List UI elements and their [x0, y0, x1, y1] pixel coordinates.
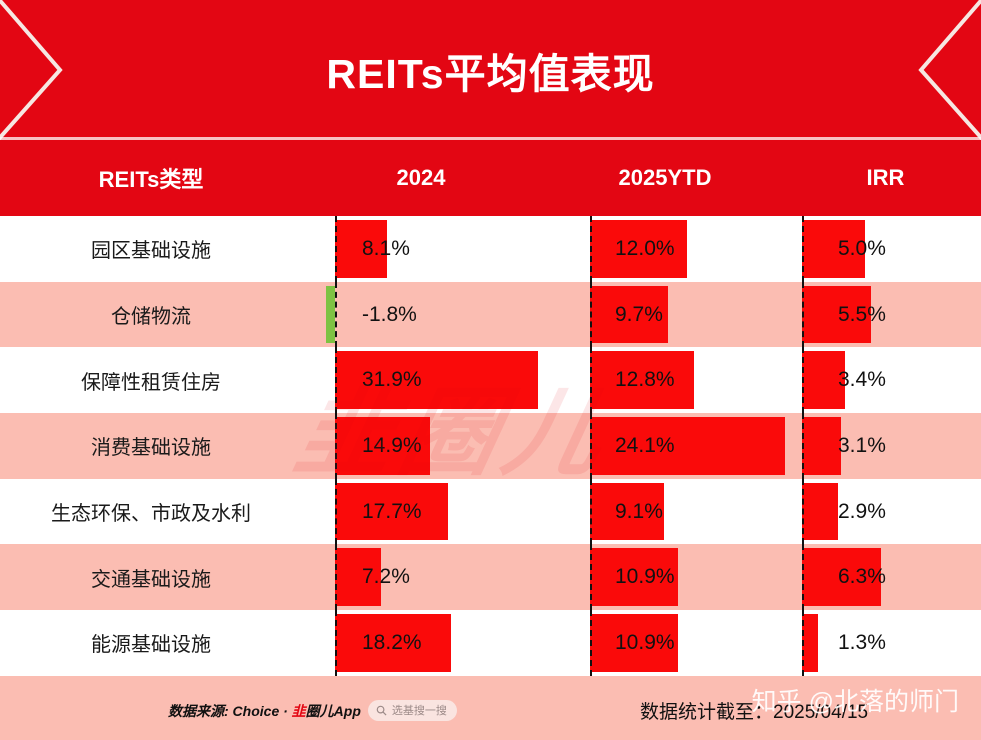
data-cutoff-label: 数据统计截至：2025/04/15 — [640, 697, 868, 724]
search-icon — [376, 705, 387, 716]
value-label: 24.1% — [615, 413, 675, 479]
table-row: 能源基础设施18.2%10.9%1.3% — [0, 610, 981, 676]
bar-negative — [326, 286, 335, 344]
cell-bar-2025ytd: 24.1% — [540, 413, 790, 479]
value-label: 9.7% — [615, 282, 663, 348]
value-label: 2.9% — [838, 479, 886, 545]
value-label: 14.9% — [362, 413, 422, 479]
cell-bar-2024: 7.2% — [302, 544, 540, 610]
bar-positive — [802, 417, 841, 475]
cell-bar-2025ytd: 9.1% — [540, 479, 790, 545]
value-label: 6.3% — [838, 544, 886, 610]
cell-bar-irr: 5.5% — [790, 282, 981, 348]
cell-bar-2025ytd: 9.7% — [540, 282, 790, 348]
value-label: 8.1% — [362, 216, 410, 282]
title-banner: REITs平均值表现 — [0, 0, 981, 140]
value-label: 3.4% — [838, 347, 886, 413]
zero-axis-line — [590, 347, 592, 413]
zero-axis-line — [335, 216, 337, 282]
column-header-2024: 2024 — [302, 165, 540, 191]
data-source-label: 数据来源: Choice · 韭圈儿App — [168, 701, 361, 721]
value-label: 10.9% — [615, 610, 675, 676]
zero-axis-line — [590, 282, 592, 348]
cell-bar-2025ytd: 10.9% — [540, 610, 790, 676]
zero-axis-line — [802, 347, 804, 413]
cell-reits-type: 仓储物流 — [0, 282, 302, 348]
zero-axis-line — [590, 479, 592, 545]
cell-bar-irr: 5.0% — [790, 216, 981, 282]
value-label: 7.2% — [362, 544, 410, 610]
value-label: 1.3% — [838, 610, 886, 676]
value-label: 31.9% — [362, 347, 422, 413]
table-row: 生态环保、市政及水利17.7%9.1%2.9% — [0, 479, 981, 545]
page-title: REITs平均值表现 — [0, 0, 981, 140]
zero-axis-line — [335, 282, 337, 348]
zero-axis-line — [335, 413, 337, 479]
value-label: 5.5% — [838, 282, 886, 348]
zero-axis-line — [590, 544, 592, 610]
reits-performance-infographic: REITs平均值表现 REITs类型 2024 2025YTD IRR 韭圈儿 … — [0, 0, 981, 740]
table-row: 仓储物流-1.8%9.7%5.5% — [0, 282, 981, 348]
cell-reits-type: 园区基础设施 — [0, 216, 302, 282]
cell-bar-irr: 2.9% — [790, 479, 981, 545]
cell-bar-2024: 14.9% — [302, 413, 540, 479]
search-pill-label: 选基搜一搜 — [392, 702, 447, 718]
zero-axis-line — [802, 282, 804, 348]
cell-reits-type: 交通基础设施 — [0, 544, 302, 610]
table-row: 保障性租赁住房31.9%12.8%3.4% — [0, 347, 981, 413]
table-row: 交通基础设施7.2%10.9%6.3% — [0, 544, 981, 610]
data-source-block: 数据来源: Choice · 韭圈儿App 选基搜一搜 — [168, 700, 457, 721]
column-header-irr: IRR — [790, 165, 981, 191]
value-label: 12.8% — [615, 347, 675, 413]
zero-axis-line — [590, 610, 592, 676]
table-body: 园区基础设施8.1%12.0%5.0%仓储物流-1.8%9.7%5.5%保障性租… — [0, 216, 981, 676]
cell-reits-type: 能源基础设施 — [0, 610, 302, 676]
zero-axis-line — [335, 347, 337, 413]
zero-axis-line — [590, 216, 592, 282]
cell-bar-2024: 31.9% — [302, 347, 540, 413]
search-pill[interactable]: 选基搜一搜 — [368, 700, 457, 721]
zero-axis-line — [802, 216, 804, 282]
value-label: 5.0% — [838, 216, 886, 282]
table-header-row: REITs类型 2024 2025YTD IRR — [0, 140, 981, 216]
cell-bar-irr: 6.3% — [790, 544, 981, 610]
table-row: 消费基础设施14.9%24.1%3.1% — [0, 413, 981, 479]
zero-axis-line — [335, 610, 337, 676]
cell-bar-irr: 1.3% — [790, 610, 981, 676]
column-header-2025ytd: 2025YTD — [540, 165, 790, 191]
value-label: 18.2% — [362, 610, 422, 676]
value-label: 3.1% — [838, 413, 886, 479]
cell-bar-irr: 3.4% — [790, 347, 981, 413]
zero-axis-line — [335, 479, 337, 545]
zero-axis-line — [335, 544, 337, 610]
zero-axis-line — [590, 413, 592, 479]
cell-bar-2024: -1.8% — [302, 282, 540, 348]
value-label: 12.0% — [615, 216, 675, 282]
bar-positive — [802, 614, 818, 672]
zero-axis-line — [802, 479, 804, 545]
cell-reits-type: 消费基础设施 — [0, 413, 302, 479]
cell-reits-type: 生态环保、市政及水利 — [0, 479, 302, 545]
value-label: 10.9% — [615, 544, 675, 610]
banner-divider — [0, 137, 981, 140]
zero-axis-line — [802, 610, 804, 676]
cell-bar-2024: 17.7% — [302, 479, 540, 545]
zero-axis-line — [802, 413, 804, 479]
column-header-type: REITs类型 — [0, 162, 302, 194]
zero-axis-line — [802, 544, 804, 610]
cell-bar-2024: 18.2% — [302, 610, 540, 676]
cell-bar-2025ytd: 12.0% — [540, 216, 790, 282]
value-label: 17.7% — [362, 479, 422, 545]
value-label: -1.8% — [362, 282, 417, 348]
cell-bar-2024: 8.1% — [302, 216, 540, 282]
cell-bar-2025ytd: 10.9% — [540, 544, 790, 610]
cell-reits-type: 保障性租赁住房 — [0, 347, 302, 413]
bar-positive — [802, 483, 838, 541]
value-label: 9.1% — [615, 479, 663, 545]
table-row: 园区基础设施8.1%12.0%5.0% — [0, 216, 981, 282]
cell-bar-2025ytd: 12.8% — [540, 347, 790, 413]
cell-bar-irr: 3.1% — [790, 413, 981, 479]
